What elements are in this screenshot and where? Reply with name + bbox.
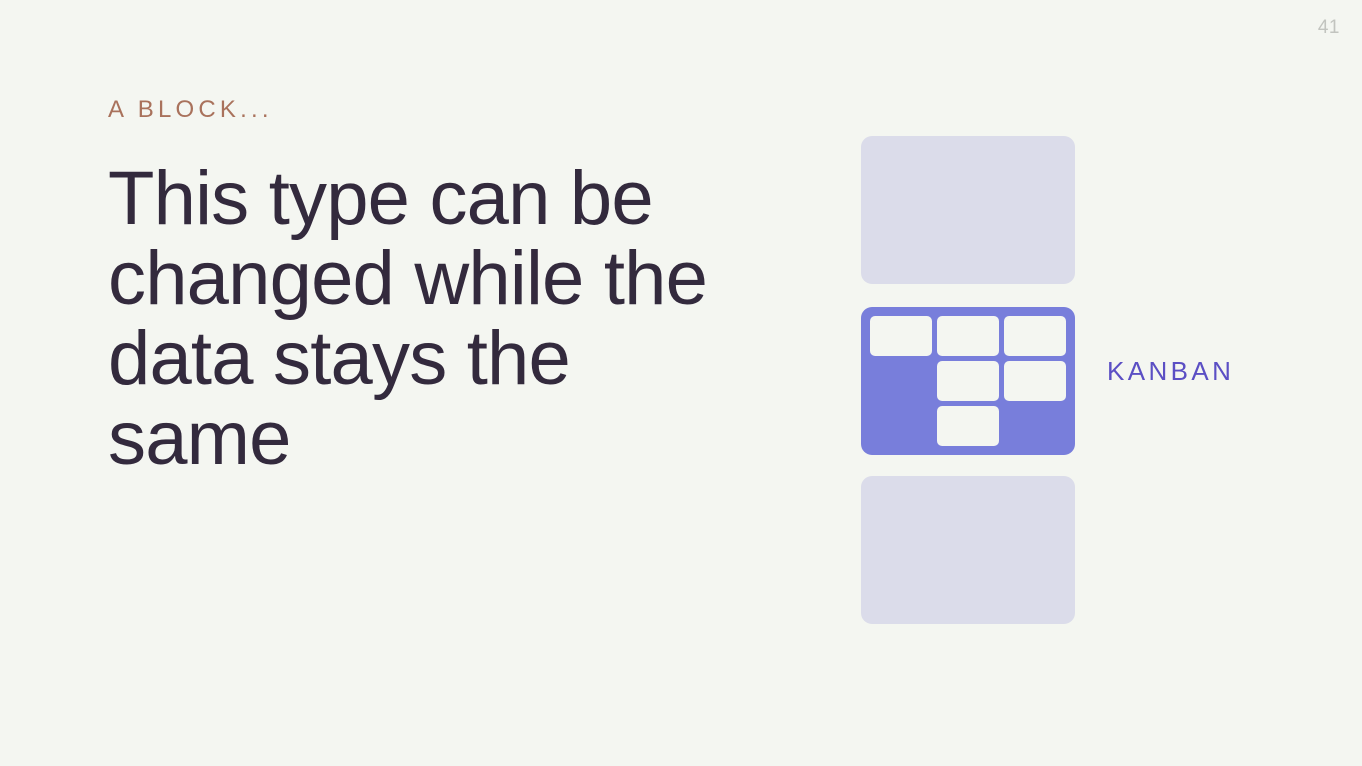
- kanban-column-1: [870, 316, 932, 446]
- kanban-card: [870, 316, 932, 356]
- ghost-card-top: [861, 136, 1075, 284]
- kanban-column-3: [1004, 316, 1066, 446]
- page-number: 41: [1318, 18, 1340, 37]
- kanban-board: [861, 307, 1075, 455]
- kanban-label: KANBAN: [1107, 358, 1234, 384]
- slide: 41 A BLOCK... This type can be changed w…: [0, 0, 1362, 766]
- kanban-card: [937, 406, 999, 446]
- kanban-card: [1004, 361, 1066, 401]
- page-title: This type can be changed while the data …: [108, 159, 768, 479]
- diagram-column: [861, 136, 1075, 624]
- text-column: A BLOCK... This type can be changed whil…: [108, 96, 788, 479]
- kanban-card: [937, 316, 999, 356]
- kanban-column-2: [937, 316, 999, 446]
- kanban-card: [937, 361, 999, 401]
- ghost-card-bottom: [861, 476, 1075, 624]
- kanban-card: [1004, 316, 1066, 356]
- eyebrow-label: A BLOCK...: [108, 96, 788, 125]
